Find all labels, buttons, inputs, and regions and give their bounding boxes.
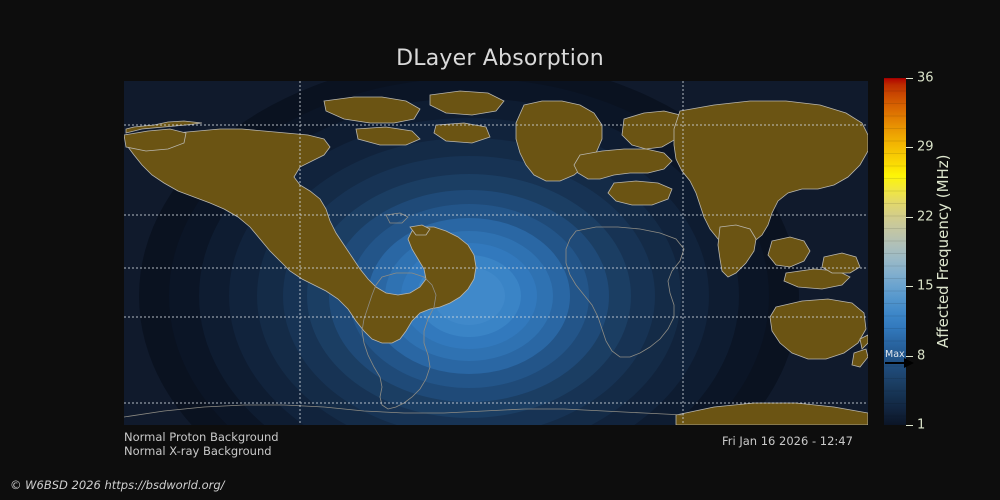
copyright-notice: © W6BSD 2026 https://bsdworld.org/ xyxy=(10,478,225,492)
colorbar[interactable] xyxy=(884,78,906,425)
colorbar-tick-mark xyxy=(906,425,913,426)
max-marker: Max xyxy=(884,350,928,372)
colorbar-tick-mark xyxy=(906,217,913,218)
colorbar-gradient xyxy=(884,78,906,425)
xray-background-status: Normal X-ray Background xyxy=(124,444,272,458)
timestamp: Fri Jan 16 2026 - 12:47 xyxy=(722,434,853,448)
max-arrow-icon xyxy=(884,358,914,370)
colorbar-axis-label: Affected Frequency (MHz) xyxy=(931,78,955,425)
colorbar-tick-mark xyxy=(906,286,913,287)
map-canvas xyxy=(124,81,868,425)
colorbar-tick-label: 1 xyxy=(917,418,925,433)
proton-background-status: Normal Proton Background xyxy=(124,430,279,444)
absorption-map[interactable] xyxy=(124,81,868,425)
colorbar-tick-mark xyxy=(906,78,913,79)
page-title: DLayer Absorption xyxy=(0,46,1000,71)
colorbar-tick-mark xyxy=(906,147,913,148)
